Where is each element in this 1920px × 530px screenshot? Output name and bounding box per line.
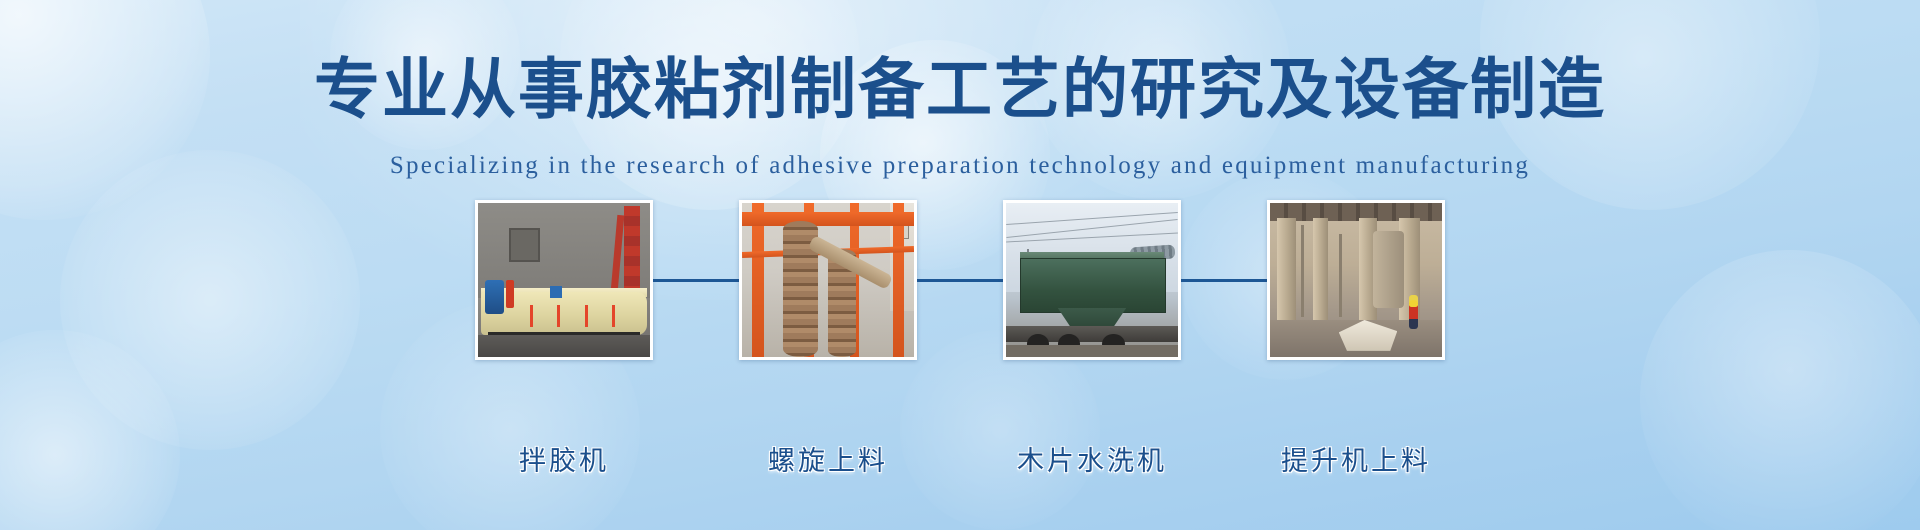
flow-connector-1 bbox=[653, 200, 739, 360]
gallery-caption-4: 提升机上料 bbox=[1267, 443, 1445, 479]
spiral-conveyor-photo bbox=[742, 203, 914, 357]
flow-connector-3 bbox=[1181, 200, 1267, 360]
gallery-captions: 拌胶机 螺旋上料 木片水洗机 提升机上料 bbox=[0, 438, 1920, 484]
elevator-feeding-photo bbox=[1270, 203, 1442, 357]
wood-chip-washer-photo bbox=[1006, 203, 1178, 357]
gallery-item-4[interactable] bbox=[1267, 200, 1445, 360]
gallery-caption-2: 螺旋上料 bbox=[739, 443, 917, 479]
photo-frame[interactable] bbox=[1267, 200, 1445, 360]
banner-headline: 专业从事胶粘剂制备工艺的研究及设备制造 bbox=[0, 52, 1920, 126]
gallery-item-2[interactable] bbox=[739, 200, 917, 360]
photo-frame[interactable] bbox=[475, 200, 653, 360]
flow-connector-2 bbox=[917, 200, 1003, 360]
gallery-item-3[interactable] bbox=[1003, 200, 1181, 360]
process-gallery bbox=[0, 200, 1920, 430]
gallery-caption-1: 拌胶机 bbox=[475, 443, 653, 479]
gallery-item-1[interactable] bbox=[475, 200, 653, 360]
gallery-caption-3: 木片水洗机 bbox=[1003, 443, 1181, 479]
photo-frame[interactable] bbox=[1003, 200, 1181, 360]
glue-mixer-photo bbox=[478, 203, 650, 357]
photo-frame[interactable] bbox=[739, 200, 917, 360]
banner-subtitle: Specializing in the research of adhesive… bbox=[0, 150, 1920, 182]
hero-banner: 专业从事胶粘剂制备工艺的研究及设备制造 Specializing in the … bbox=[0, 0, 1920, 530]
